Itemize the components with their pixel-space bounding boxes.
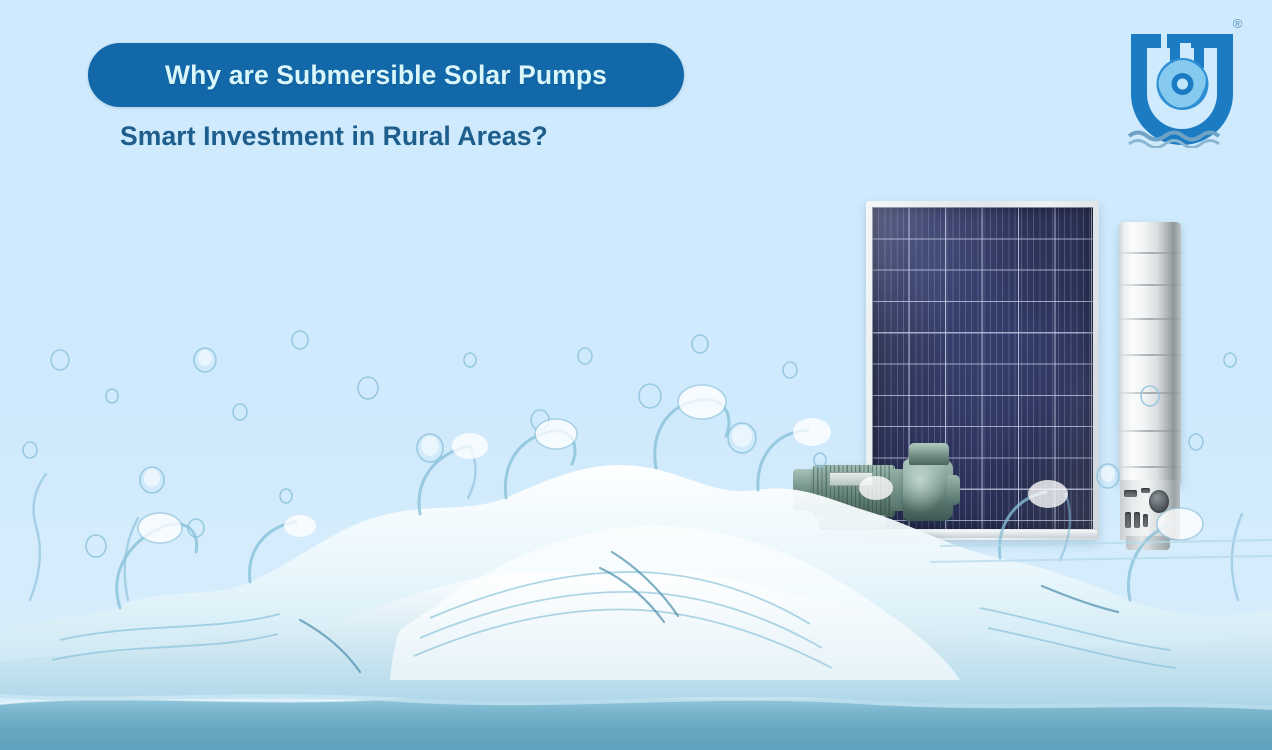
monoblock-pump-base-feet <box>819 515 885 530</box>
monoblock-pump-image <box>785 447 960 552</box>
submersible-pump-seams <box>1119 222 1181 484</box>
monoblock-pump-shadow <box>805 529 955 543</box>
submersible-pump-base <box>1126 536 1170 550</box>
monoblock-pump-suction-inlet <box>947 475 960 505</box>
submersible-pump-outlet-port <box>1149 490 1169 513</box>
banner-root: Why are Submersible Solar Pumps Smart In… <box>0 0 1272 750</box>
monoblock-pump-nameplate <box>829 472 873 486</box>
monoblock-pump-volute-casing <box>903 459 953 521</box>
submersible-pump-intake <box>1120 480 1180 540</box>
monoblock-pump-discharge-outlet <box>909 443 949 465</box>
submersible-pump-body <box>1119 222 1181 484</box>
submersible-pump-image <box>1119 222 1181 552</box>
product-group <box>0 0 1272 750</box>
